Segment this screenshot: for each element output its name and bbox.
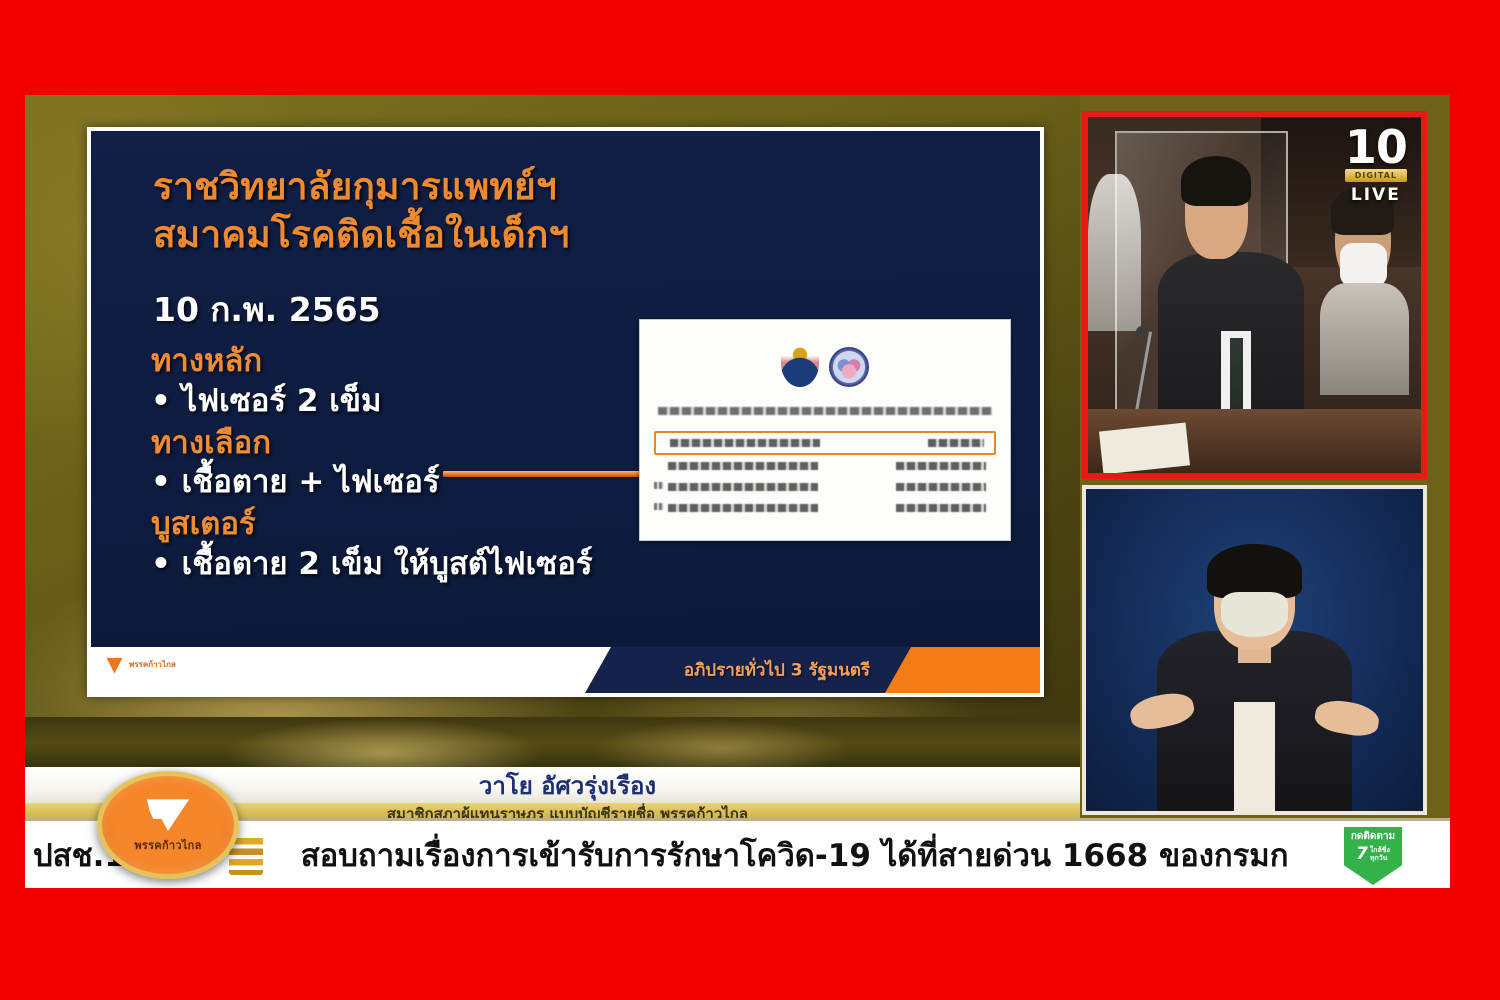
document-row-number xyxy=(654,503,664,510)
slide-footer-banner: อภิปรายทั่วไป 3 รัฐมนตรี พรรคก้าวไกล xyxy=(91,647,1040,693)
face-mask-icon xyxy=(1221,592,1288,637)
speaker-notes xyxy=(1099,422,1190,474)
document-row-role xyxy=(896,483,986,491)
slide-title-line1: ราชวิทยาลัยกุมารแพทย์ฯ xyxy=(153,165,557,208)
interpreter-blouse xyxy=(1234,702,1274,811)
document-row-role xyxy=(896,504,986,512)
party-arrow-icon xyxy=(105,656,124,675)
face-mask-icon xyxy=(1340,243,1387,287)
bullet-booster: • เชื้อตาย 2 เข็ม ให้บูสต์ไฟเซอร์ xyxy=(151,546,631,584)
document-emblems xyxy=(640,335,1010,387)
document-row-role xyxy=(896,462,986,470)
document-row-name xyxy=(670,439,820,447)
document-row xyxy=(654,476,996,497)
interpreter-hair xyxy=(1207,544,1301,599)
slide-title: ราชวิทยาลัยกุมารแพทย์ฯ สมาคมโรคติดเชื้อใ… xyxy=(153,163,793,259)
presentation-slide-frame: ราชวิทยาลัยกุมารแพทย์ฯ สมาคมโรคติดเชื้อใ… xyxy=(87,127,1044,697)
royal-emblem-icon xyxy=(781,341,819,387)
embedded-document-image xyxy=(639,319,1011,541)
presentation-slide: ราชวิทยาลัยกุมารแพทย์ฯ สมาคมโรคติดเชื้อใ… xyxy=(91,131,1040,693)
section-heading-booster: บูสเตอร์ xyxy=(151,506,631,544)
document-row-highlighted xyxy=(654,431,996,455)
video-feed-parliament: 10 DIGITAL LIVE xyxy=(1082,111,1427,479)
document-row xyxy=(654,455,996,476)
slide-title-line2: สมาคมโรคติดเชื้อในเด็กฯ xyxy=(153,211,793,259)
banner-party-logo: พรรคก้าวไกล xyxy=(105,656,176,675)
ministry-seal-icon xyxy=(829,347,869,387)
slide-body-list: ทางหลัก • ไฟเซอร์ 2 เข็ม ทางเลือก • เชื้… xyxy=(151,339,631,584)
document-row-name xyxy=(668,483,818,491)
banner-topic-text: อภิปรายทั่วไป 3 รัฐมนตรี xyxy=(684,657,870,684)
follow-badge-label: กดติดตาม xyxy=(1351,832,1395,842)
slide-date: 10 ก.พ. 2565 xyxy=(153,283,381,336)
broadcast-content-area: ราชวิทยาลัยกุมารแพทย์ฯ สมาคมโรคติดเชื้อใ… xyxy=(25,95,1450,888)
follow-badge-logo: 7 ใกล้ชิ่ง ทุกวัน xyxy=(1356,846,1390,863)
broadcast-screenshot: ราชวิทยาลัยกุมารแพทย์ฯ สมาคมโรคติดเชื้อใ… xyxy=(0,0,1500,1000)
banner-party-label: พรรคก้าวไกล xyxy=(129,661,176,669)
background-person-right xyxy=(1318,195,1411,394)
follow-badge[interactable]: กดติดตาม 7 ใกล้ชิ่ง ทุกวัน xyxy=(1344,827,1402,885)
party-logo-badge: พรรคก้าวไกล xyxy=(97,771,239,879)
interpreter-scene xyxy=(1086,489,1423,811)
document-heading-text xyxy=(658,407,992,415)
document-row-name xyxy=(668,504,818,512)
pointer-line xyxy=(443,471,643,477)
document-name-list xyxy=(654,431,996,518)
speaker-hair xyxy=(1181,156,1251,206)
document-row-number xyxy=(654,482,664,489)
party-badge-label: พรรคก้าวไกล xyxy=(134,836,201,854)
live-badge: LIVE xyxy=(1351,185,1401,205)
document-row xyxy=(654,497,996,518)
ticker-message: สอบถามเรื่องการเข้ารับการรักษาโควิด-19 ไ… xyxy=(301,830,1289,880)
document-row-role xyxy=(928,439,984,447)
document-row-name xyxy=(668,462,818,470)
channel-seven-icon: 7 xyxy=(1356,846,1368,863)
section-heading-main: ทางหลัก xyxy=(151,343,631,381)
digital-label: DIGITAL xyxy=(1345,169,1407,182)
section-heading-alternate: ทางเลือก xyxy=(151,425,631,463)
party-arrow-icon xyxy=(145,797,191,833)
video-feed-sign-language xyxy=(1082,485,1427,815)
bullet-main: • ไฟเซอร์ 2 เข็ม xyxy=(151,383,631,421)
microphone-icon xyxy=(1136,326,1148,338)
channel-number: 10 xyxy=(1345,127,1407,167)
banner-orange-shape xyxy=(885,647,1040,693)
follow-badge-sub2: ทุกวัน xyxy=(1370,854,1388,862)
channel-watermark: 10 DIGITAL LIVE xyxy=(1345,127,1407,205)
person-body xyxy=(1320,283,1410,395)
